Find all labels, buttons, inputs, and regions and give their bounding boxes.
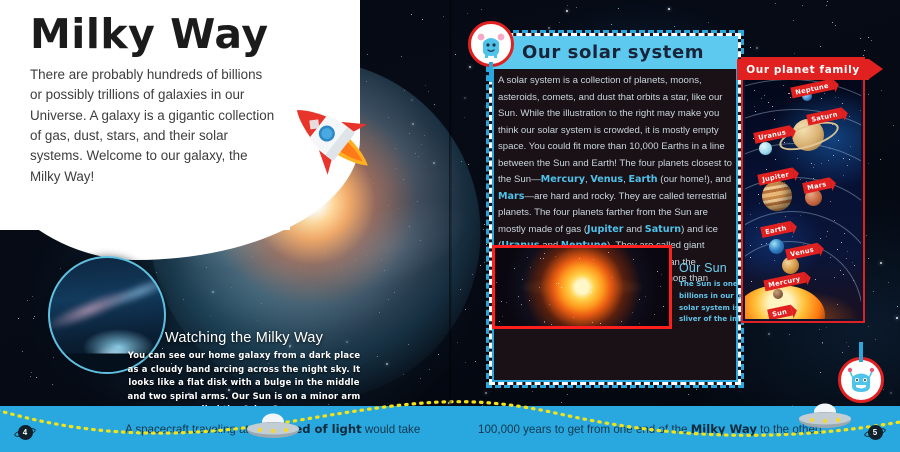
planet-earth [769, 239, 784, 254]
spread-page: Milky Way There are probably hundreds of… [0, 0, 900, 452]
highlight-term: Mercury [541, 174, 585, 185]
planet-family-panel: NeptuneSaturnUranusJupiterMarsEarthVenus… [741, 57, 865, 323]
body-text-run: (our home!), and [658, 174, 732, 185]
intro-paragraph: There are probably hundreds of billions … [30, 65, 276, 187]
solar-system-panel: Our solar system A solar system is a col… [489, 33, 741, 385]
ufo-icon-right [795, 402, 855, 441]
monster-badge-bottom[interactable] [838, 357, 884, 403]
highlight-term: Saturn [645, 224, 681, 235]
watching-caption-heading: Watching the Milky Way [124, 330, 364, 346]
sun-photo [492, 245, 672, 329]
page-gutter [449, 0, 452, 406]
body-text-run: and [623, 224, 644, 235]
page-number-value: 5 [873, 428, 877, 437]
page-title: Milky Way [30, 14, 295, 56]
page-number-left: 4 [14, 424, 36, 440]
planet-uranus [759, 142, 772, 155]
highlight-term: Venus [590, 174, 623, 185]
planet-jupiter [762, 181, 792, 211]
planet-mercury [773, 289, 783, 299]
monster-badge-top[interactable] [468, 21, 514, 67]
monster-icon [476, 30, 506, 58]
panel-title: Our solar system [522, 42, 704, 63]
body-text-run: A solar system is a collection of planet… [498, 75, 732, 185]
planet-family-scene: NeptuneSaturnUranusJupiterMarsEarthVenus… [745, 61, 861, 319]
ufo-icon-left [243, 412, 303, 451]
panel-header: Our solar system [492, 36, 738, 69]
panel-body-text: A solar system is a collection of planet… [498, 73, 734, 379]
monster-icon [846, 366, 876, 394]
planet-family-banner: Our planet family [737, 59, 869, 80]
left-page-text: Milky Way There are probably hundreds of… [30, 14, 295, 187]
highlight-term: Mars [498, 191, 524, 202]
highlight-term: Jupiter [587, 224, 623, 235]
page-number-right: 5 [864, 424, 886, 440]
planet-family-title: Our planet family [746, 64, 860, 76]
highlight-term: Earth [628, 174, 657, 185]
badge-stick [859, 342, 863, 362]
badge-stick [489, 62, 493, 82]
page-number-value: 4 [23, 428, 27, 437]
